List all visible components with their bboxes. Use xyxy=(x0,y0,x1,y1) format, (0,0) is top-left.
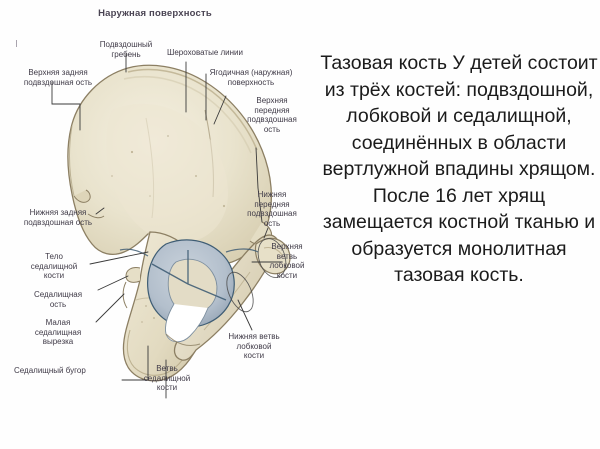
label-ischial-tuberosity: Седалищный бугор xyxy=(14,366,124,376)
label-superior-anterior-iliac-spine: Верхняя передняя подвздошная ость xyxy=(232,96,312,134)
label-inferior-anterior-iliac-spine: Нижняя передняя подвздошная ость xyxy=(232,190,312,228)
label-inferior-posterior-iliac-spine: Нижняя задняя подвздошная ость xyxy=(4,208,112,227)
label-inferior-pubic-ramus: Нижняя ветвь лобковой кости xyxy=(206,332,302,361)
pelvic-bone-infographic: Наружная поверхность xyxy=(0,0,600,449)
label-lesser-sciatic-notch: Малая седалищная вырезка xyxy=(22,318,94,347)
description-text: Тазовая кость У детей состоит из трёх ко… xyxy=(320,50,598,289)
label-ischial-spine: Седалищная ость xyxy=(22,290,94,309)
label-body-of-ischium: Тело седалищной кости xyxy=(18,252,90,281)
label-superior-posterior-iliac-spine: Верхняя задняя подвздошная ость xyxy=(6,68,110,87)
label-superior-pubic-ramus: Верхняя ветвь лобковой кости xyxy=(258,242,316,280)
diagram-panel: Наружная поверхность xyxy=(0,0,320,449)
label-rough-lines: Шероховатые линии xyxy=(150,48,260,58)
label-ramus-of-ischium: Ветвь седалищной кости xyxy=(132,364,202,393)
label-gluteal-surface: Ягодичная (наружная) поверхность xyxy=(188,68,314,87)
